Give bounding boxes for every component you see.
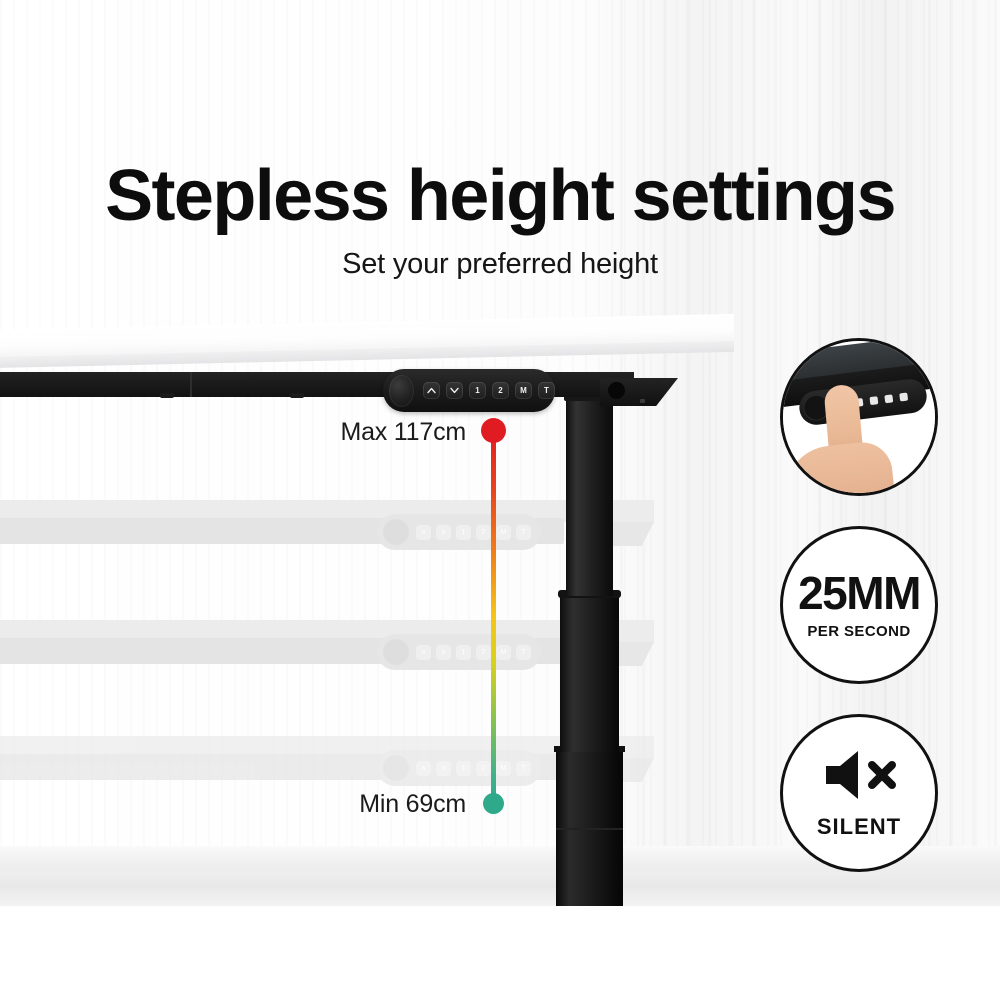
preset-1-button[interactable]: 1: [469, 382, 486, 399]
ghost-btn: M: [496, 645, 511, 660]
ghost-btn: ∨: [436, 761, 451, 776]
ghost-btn: T: [516, 525, 531, 540]
badge-speed: 25MM PER SECOND: [780, 526, 938, 684]
ghost-btn: 1: [456, 645, 471, 660]
ghost-btn: 2: [476, 761, 491, 776]
max-height-marker: [481, 418, 506, 443]
preset-2-button[interactable]: 2: [492, 382, 509, 399]
ghost-btn: M: [496, 525, 511, 540]
rotary-knob-icon[interactable]: [389, 375, 414, 407]
memory-button[interactable]: M: [515, 382, 532, 399]
ghost-btn: 1: [456, 525, 471, 540]
ghost-btn: 2: [476, 525, 491, 540]
ghost-btn: ∨: [436, 645, 451, 660]
bracket-screw: [640, 399, 645, 403]
ghost-btn: ∧: [416, 761, 431, 776]
ghost-knob: [383, 639, 409, 665]
photo-buttons: [855, 393, 909, 407]
desk-leg-middle: [560, 592, 619, 752]
ghost-knob: [383, 755, 409, 781]
hand: [782, 440, 897, 496]
rail-fitting: [160, 393, 174, 398]
ghost-btn: ∨: [436, 525, 451, 540]
up-chevron-icon[interactable]: [423, 382, 440, 399]
page-title: Stepless height settings: [0, 160, 1000, 232]
ghost-btn: M: [496, 761, 511, 776]
desk-leg-upper: [566, 396, 613, 596]
min-height-marker: [483, 793, 504, 814]
ghost-btn: ∧: [416, 645, 431, 660]
ghost-btn: T: [516, 645, 531, 660]
silent-caption: SILENT: [817, 814, 901, 840]
bracket-hole: [608, 382, 625, 399]
rail-seam: [190, 372, 192, 397]
max-height-label: Max 117cm: [196, 418, 466, 447]
control-buttons[interactable]: 1 2 M T: [423, 382, 555, 399]
speed-value: 25MM: [798, 570, 920, 616]
leg-seam: [556, 828, 623, 830]
timer-button[interactable]: T: [538, 382, 555, 399]
badge-touch-control: [780, 338, 938, 496]
photo-button: [899, 393, 908, 402]
height-range-gradient-bar: [491, 428, 496, 804]
photo-button: [884, 394, 893, 403]
speed-caption: PER SECOND: [807, 623, 910, 640]
ghost-btn: 2: [476, 645, 491, 660]
min-height-label: Min 69cm: [196, 790, 466, 819]
photo-button: [869, 396, 878, 405]
rail-fitting: [290, 393, 304, 398]
page-subtitle: Set your preferred height: [0, 248, 1000, 281]
ghost-btn: ∧: [416, 525, 431, 540]
ghost-btn: T: [516, 761, 531, 776]
ghost-btn: 1: [456, 761, 471, 776]
bottom-whitespace: [0, 906, 1000, 1000]
floor-skirting: [0, 872, 880, 888]
height-control-panel[interactable]: 1 2 M T: [383, 369, 555, 412]
product-feature-image: Stepless height settings Set your prefer…: [0, 0, 1000, 1000]
touch-control-photo: [783, 341, 935, 493]
down-chevron-icon[interactable]: [446, 382, 463, 399]
ghost-knob: [383, 519, 409, 545]
badge-silent: SILENT: [780, 714, 938, 872]
speaker-mute-icon: [820, 747, 898, 808]
